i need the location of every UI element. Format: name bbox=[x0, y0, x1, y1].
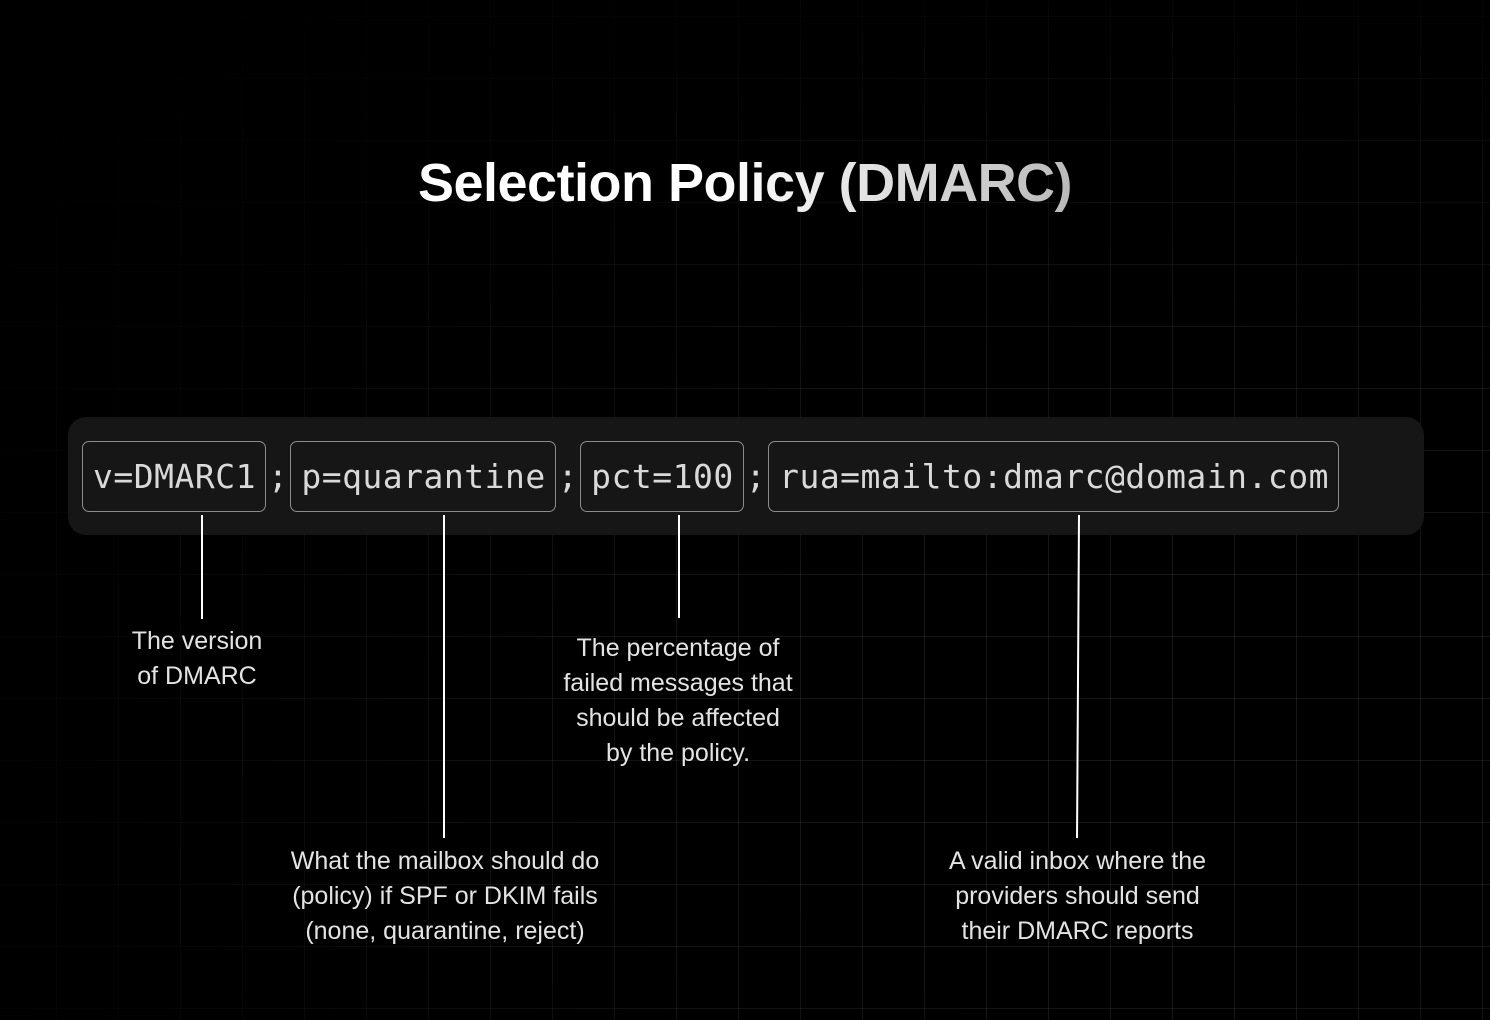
page-title: Selection Policy (DMARC) bbox=[0, 152, 1490, 214]
dmarc-record-panel: v=DMARC1 ; p=quarantine ; pct=100 ; rua=… bbox=[68, 417, 1424, 535]
dmarc-record-line: v=DMARC1 ; p=quarantine ; pct=100 ; rua=… bbox=[82, 441, 1339, 512]
record-separator-3: ; bbox=[744, 457, 768, 496]
record-chip-policy[interactable]: p=quarantine bbox=[290, 441, 555, 512]
record-separator-1: ; bbox=[266, 457, 290, 496]
annotation-pct: The percentage of failed messages that s… bbox=[508, 631, 848, 771]
record-chip-rua[interactable]: rua=mailto:dmarc@domain.com bbox=[768, 441, 1339, 512]
connector-line-rua bbox=[1076, 515, 1080, 838]
record-chip-version[interactable]: v=DMARC1 bbox=[82, 441, 266, 512]
annotation-policy: What the mailbox should do (policy) if S… bbox=[240, 844, 650, 949]
record-separator-2: ; bbox=[556, 457, 580, 496]
annotation-version: The version of DMARC bbox=[77, 624, 317, 694]
record-chip-pct[interactable]: pct=100 bbox=[580, 441, 744, 512]
connector-line-policy bbox=[443, 515, 445, 838]
connector-line-pct bbox=[678, 515, 680, 618]
connector-line-version bbox=[201, 515, 203, 619]
annotation-rua: A valid inbox where the providers should… bbox=[895, 844, 1260, 949]
